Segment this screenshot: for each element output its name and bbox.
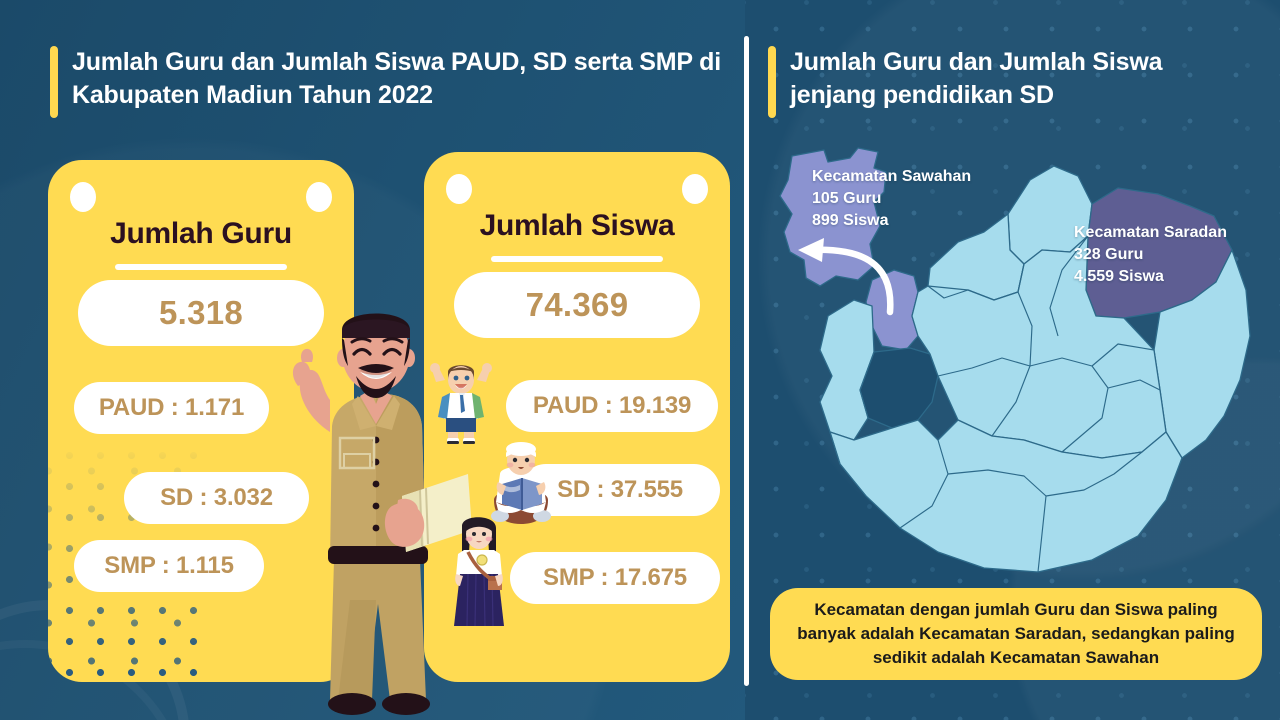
map-label-saradan-teachers: 328 Guru	[1074, 244, 1227, 266]
map-region-west-light	[820, 300, 874, 440]
left-title-text: Jumlah Guru dan Jumlah Siswa PAUD, SD se…	[72, 46, 730, 118]
level-pill-guru-paud: PAUD : 1.171	[74, 382, 269, 434]
left-title-block: Jumlah Guru dan Jumlah Siswa PAUD, SD se…	[50, 46, 730, 118]
card-divider-rule	[115, 264, 287, 270]
map-label-sawahan-teachers: 105 Guru	[812, 188, 971, 210]
student-boy-illustration	[426, 358, 496, 446]
map-label-sawahan-name: Kecamatan Sawahan	[812, 166, 971, 188]
title-accent-bar	[50, 46, 58, 118]
level-pill-guru-smp: SMP : 1.115	[74, 540, 264, 592]
card-hole-dot-right	[306, 182, 332, 212]
card-hole-dot-left	[446, 174, 472, 204]
level-pill-siswa-paud: PAUD : 19.139	[506, 380, 718, 432]
card-hole-dot-left	[70, 182, 96, 212]
title-accent-bar	[768, 46, 776, 118]
map-label-sawahan-students: 899 Siswa	[812, 210, 971, 232]
map-label-saradan-students: 4.559 Siswa	[1074, 266, 1227, 288]
map-label-saradan-name: Kecamatan Saradan	[1074, 222, 1227, 244]
summary-caption-box: Kecamatan dengan jumlah Guru dan Siswa p…	[770, 588, 1262, 680]
card-hole-dot-right	[682, 174, 708, 204]
map-label-saradan: Kecamatan Saradan 328 Guru 4.559 Siswa	[1074, 222, 1227, 288]
card-divider-rule	[491, 256, 663, 262]
infographic-canvas: Jumlah Guru dan Jumlah Siswa PAUD, SD se…	[0, 0, 1280, 720]
card-heading-siswa: Jumlah Siswa	[424, 209, 730, 243]
level-pill-siswa-smp: SMP : 17.675	[510, 552, 720, 604]
map-kabupaten-madiun: Kecamatan Sawahan 105 Guru 899 Siswa Kec…	[762, 140, 1270, 585]
total-value-siswa: 74.369	[454, 272, 700, 338]
right-title-block: Jumlah Guru dan Jumlah Siswa jenjang pen…	[768, 46, 1238, 118]
right-title-text: Jumlah Guru dan Jumlah Siswa jenjang pen…	[790, 46, 1238, 118]
card-heading-guru: Jumlah Guru	[48, 217, 354, 251]
summary-caption-text: Kecamatan dengan jumlah Guru dan Siswa p…	[786, 598, 1246, 670]
student-girl-illustration	[448, 512, 510, 634]
map-label-sawahan: Kecamatan Sawahan 105 Guru 899 Siswa	[812, 166, 971, 232]
vertical-divider	[744, 36, 749, 686]
